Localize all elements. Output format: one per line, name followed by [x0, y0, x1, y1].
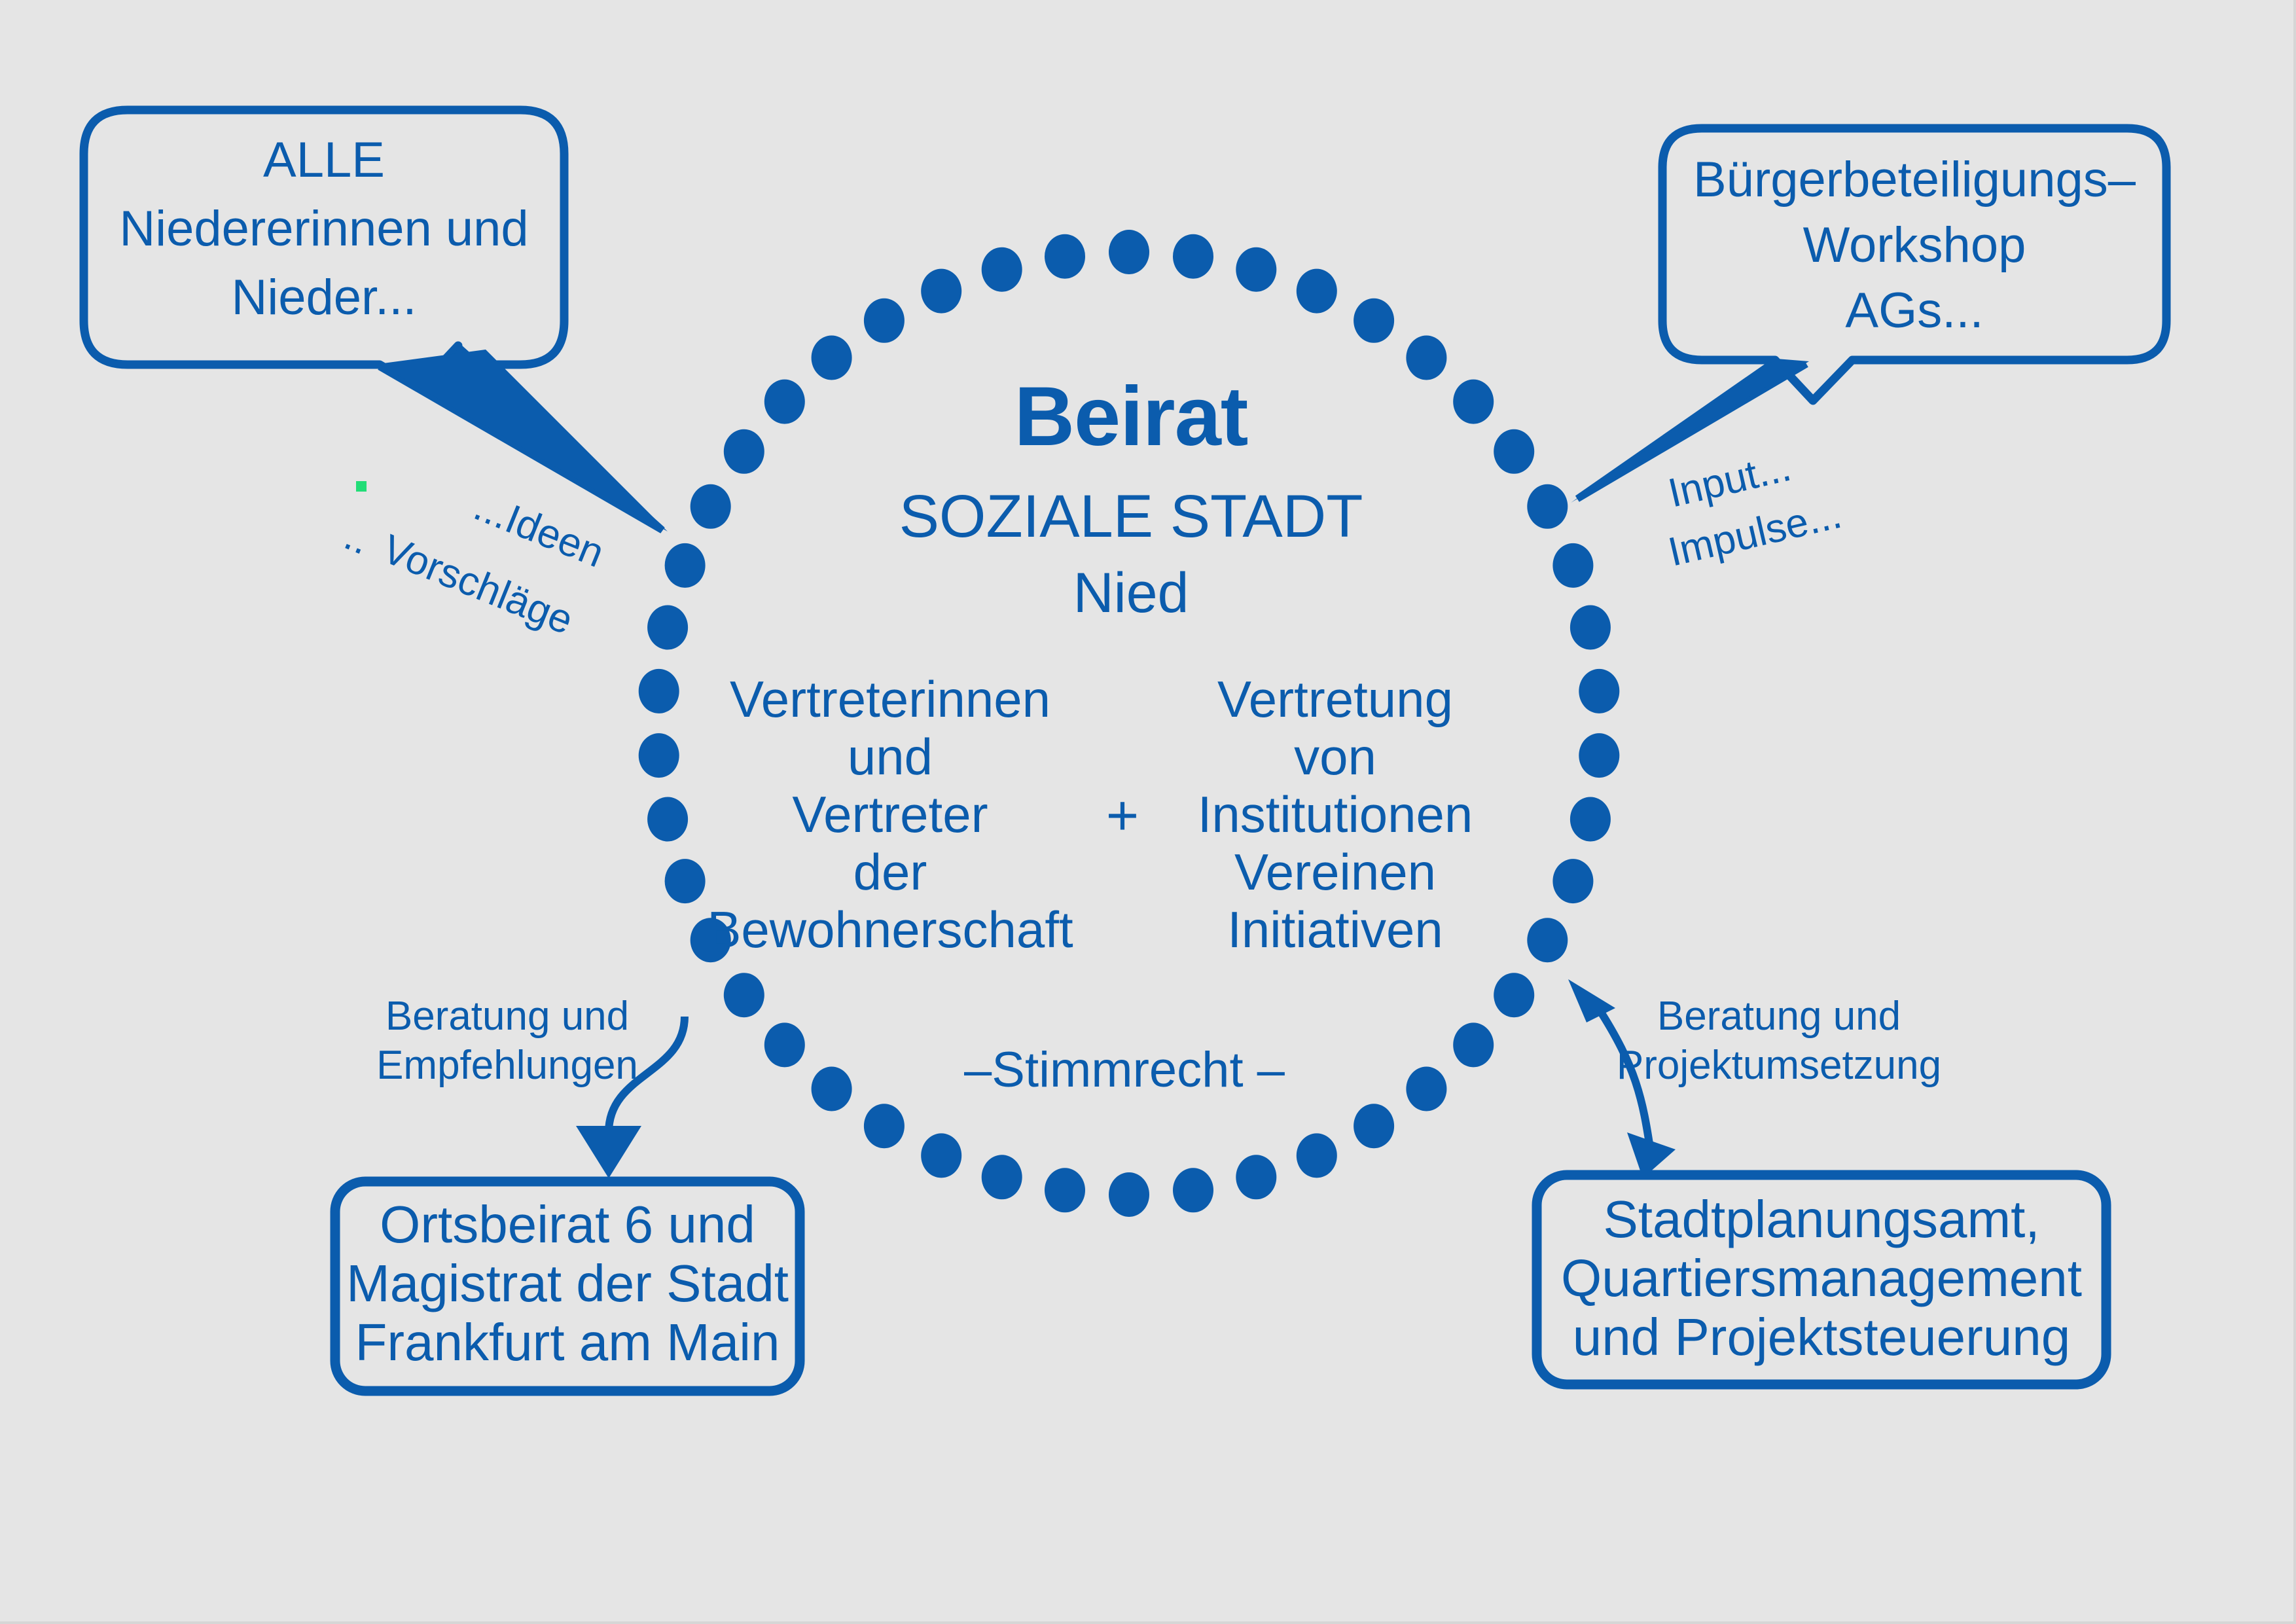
bubble-tl-line-1: ALLE — [263, 132, 385, 188]
ring-dot — [764, 380, 805, 424]
left-col-line-1: Vertreterinnen — [730, 670, 1050, 728]
annotation-ideen: ...Ideen — [468, 484, 611, 576]
beratung-projektumsetzung-line-2: Projektumsetzung — [1617, 1043, 1941, 1088]
box-ortsbeirat-line-1: Ortsbeirat 6 und — [380, 1195, 755, 1254]
beratung-empfehlungen-line-2: Empfehlungen — [376, 1043, 638, 1088]
bubble-tr-line-1: Bürgerbeteiligungs– — [1693, 152, 2136, 208]
stimmrecht-label: –Stimmrecht – — [964, 1042, 1285, 1098]
ring-dot — [1354, 298, 1394, 343]
ring-dot — [1173, 234, 1213, 279]
beirat-diagram: ALLE Niedererinnen und Nieder... Bürgerb… — [0, 0, 2296, 1624]
ring-dot — [1354, 1104, 1394, 1148]
plus-sign: + — [1106, 784, 1139, 847]
ring-dot — [1406, 1067, 1446, 1111]
center-right-column: Vertretung von Institutionen Vereinen In… — [1198, 670, 1473, 958]
annotation-beratung-empfehlungen: Beratung und Empfehlungen — [376, 994, 685, 1178]
ring-dot — [1045, 1168, 1085, 1212]
ring-dot — [665, 859, 706, 903]
left-col-line-3: Vertreter — [792, 785, 988, 843]
left-col-line-2: und — [848, 728, 933, 785]
ring-dot — [1109, 230, 1149, 274]
ring-dot — [1236, 1155, 1276, 1199]
ring-dot — [1297, 269, 1337, 314]
ring-dot — [812, 1067, 852, 1111]
center-title: Beirat — [1014, 370, 1248, 463]
bubble-tl-line-2: Niedererinnen und — [119, 201, 528, 257]
ring-dot — [921, 269, 961, 314]
bubble-tr-line-2: Workshop — [1803, 217, 2026, 273]
box-stadtplanungsamt[interactable]: Stadtplanungsamt, Quartiersmanagement un… — [1537, 1175, 2106, 1384]
ring-dot — [647, 797, 688, 842]
ring-dot — [1494, 429, 1534, 474]
ring-dot — [1552, 859, 1593, 903]
ring-dot — [1579, 669, 1619, 713]
arrow-down-left-head — [576, 1126, 641, 1178]
center-subtitle2: Nied — [1073, 562, 1189, 624]
ring-dot — [724, 973, 764, 1017]
green-accent-dot — [356, 481, 367, 492]
annotation-input-impulse: Input... Impulse... — [1664, 444, 1846, 575]
left-col-line-5: Bewohnerschaft — [707, 901, 1073, 958]
ring-dot — [1527, 918, 1568, 962]
ring-dot — [1570, 605, 1611, 650]
box-stadtplanungsamt-line-3: und Projektsteuerung — [1573, 1308, 2071, 1366]
ring-dot — [639, 669, 679, 713]
ring-dot — [1570, 797, 1611, 842]
ring-dot — [1579, 733, 1619, 778]
ring-dot — [1453, 1022, 1494, 1067]
double-arrow-head-up — [1568, 979, 1615, 1022]
ring-dot — [812, 336, 852, 380]
box-ortsbeirat-line-3: Frankfurt am Main — [355, 1313, 780, 1371]
ring-dot — [1045, 234, 1085, 279]
center-content: Beirat SOZIALE STADT Nied Vertreterinnen… — [707, 370, 1473, 1098]
speech-bubble-top-left[interactable]: ALLE Niedererinnen und Nieder... — [84, 110, 668, 532]
ring-dot — [1494, 973, 1534, 1017]
ring-dot — [1527, 484, 1568, 529]
ring-dot — [982, 1155, 1022, 1199]
ring-dot — [1236, 247, 1276, 292]
annotation-beratung-projektumsetzung: Beratung und Projektumsetzung — [1568, 979, 1941, 1178]
ring-dot — [864, 1104, 905, 1148]
ring-dot — [982, 247, 1022, 292]
ring-dot — [1552, 543, 1593, 588]
ring-dot — [1173, 1168, 1213, 1212]
ring-dot — [1406, 336, 1446, 380]
right-col-line-3: Institutionen — [1198, 785, 1473, 843]
ring-dot — [639, 733, 679, 778]
ring-dot — [764, 1022, 805, 1067]
right-col-line-5: Initiativen — [1227, 901, 1443, 958]
speech-bubble-top-right[interactable]: Bürgerbeteiligungs– Workshop AGs... — [1571, 128, 2166, 503]
annotation-vorschlaege-dots: .. — [338, 513, 376, 564]
right-col-line-4: Vereinen — [1234, 843, 1436, 901]
box-ortsbeirat-line-2: Magistrat der Stadt — [346, 1254, 789, 1312]
ring-dot — [665, 543, 706, 588]
diagram-canvas: ALLE Niedererinnen und Nieder... Bürgerb… — [0, 0, 2296, 1624]
annotation-ideen-vorschlaege: ...Ideen Vorschläge .. — [338, 481, 611, 643]
ring-dot — [1109, 1172, 1149, 1217]
center-subtitle: SOZIALE STADT — [899, 483, 1363, 550]
ring-dot — [1453, 380, 1494, 424]
bubble-tr-line-3: AGs... — [1845, 283, 1983, 338]
box-ortsbeirat[interactable]: Ortsbeirat 6 und Magistrat der Stadt Fra… — [335, 1182, 800, 1391]
ring-dot — [724, 429, 764, 474]
box-stadtplanungsamt-line-2: Quartiersmanagement — [1561, 1249, 2082, 1307]
right-col-line-2: von — [1294, 728, 1376, 785]
beratung-empfehlungen-line-1: Beratung und — [386, 994, 629, 1039]
ring-dot — [1297, 1133, 1337, 1178]
center-left-column: Vertreterinnen und Vertreter der Bewohne… — [707, 670, 1073, 958]
right-col-line-1: Vertretung — [1217, 670, 1453, 728]
left-col-line-4: der — [853, 843, 927, 901]
ring-dot — [647, 605, 688, 650]
bubble-tl-line-3: Nieder... — [231, 270, 416, 325]
ring-dot — [864, 298, 905, 343]
beratung-projektumsetzung-line-1: Beratung und — [1657, 994, 1901, 1039]
box-stadtplanungsamt-line-1: Stadtplanungsamt, — [1603, 1190, 2039, 1248]
ring-dot — [921, 1133, 961, 1178]
ring-dot — [691, 484, 731, 529]
